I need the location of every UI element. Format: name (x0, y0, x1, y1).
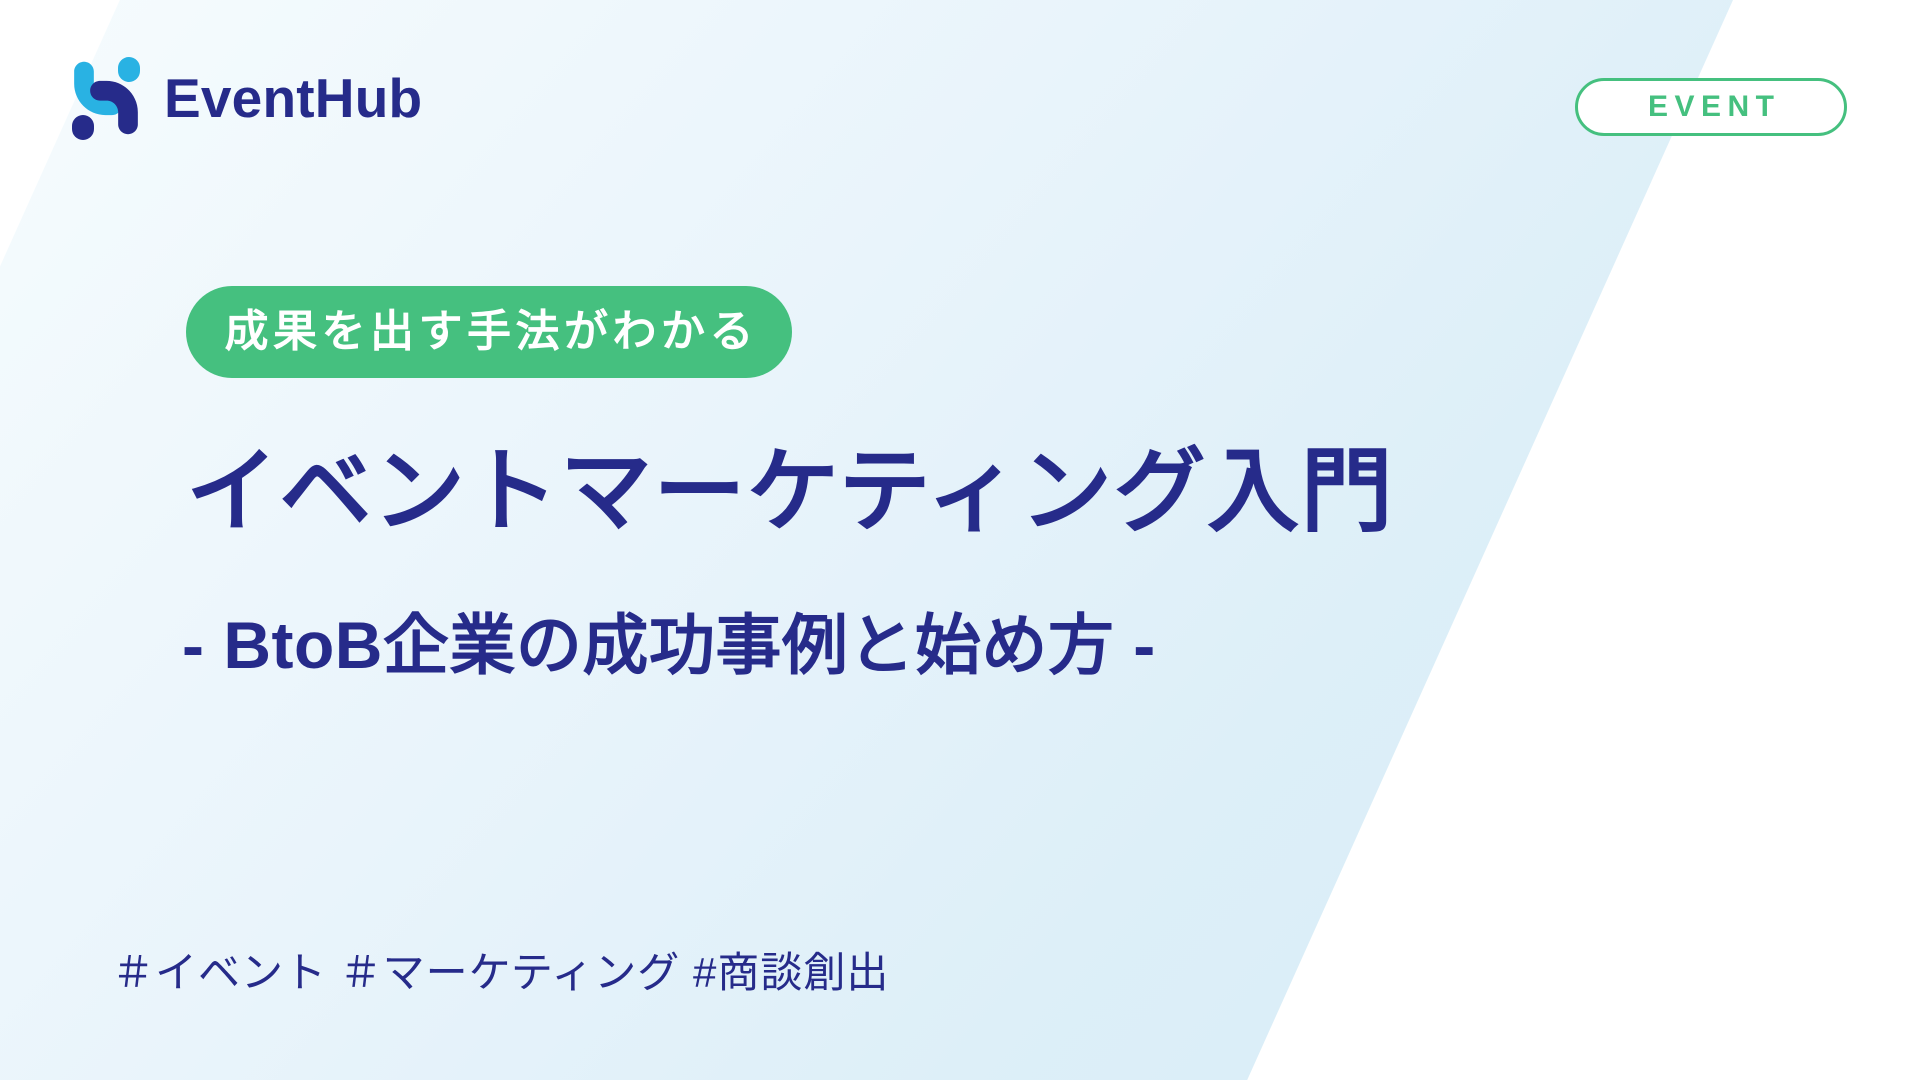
headline-group: イベントマーケティング入門 - BtoB企業の成功事例と始め方 - (186, 440, 1706, 686)
eventhub-logo[interactable]: EventHub (68, 52, 422, 144)
hashtag-list: ＃イベント ＃マーケティング #商談創出 (112, 948, 889, 998)
headline-main: イベントマーケティング入門 (186, 440, 1706, 545)
event-type-badge-label: EVENT (1641, 92, 1780, 122)
banner-content: 成果を出す手法がわかる イベントマーケティング入門 - BtoB企業の成功事例と… (186, 286, 1706, 740)
banner-header: EventHub EVENT (0, 0, 1920, 200)
eventhub-logo-wordmark: EventHub (164, 71, 422, 126)
headline-sub: - BtoB企業の成功事例と始め方 - (182, 606, 1706, 685)
event-type-badge: EVENT (1575, 78, 1847, 136)
eventhub-logo-mark-icon (68, 55, 144, 141)
event-banner: EventHub EVENT 成果を出す手法がわかる イベントマーケティング入門… (0, 0, 1920, 1080)
eyebrow-badge: 成果を出す手法がわかる (186, 286, 792, 378)
eyebrow-badge-label: 成果を出す手法がわかる (220, 310, 758, 354)
